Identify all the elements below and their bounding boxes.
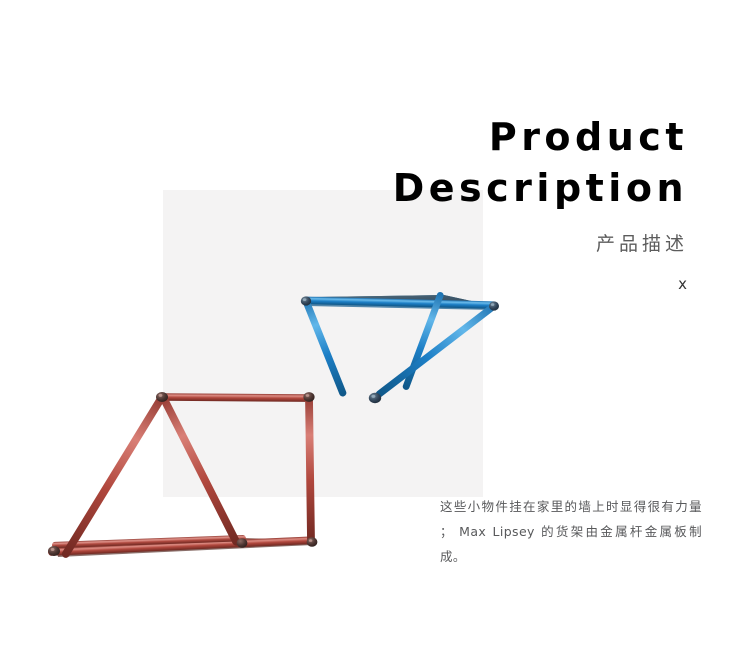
red-joint-bottom-right	[307, 537, 318, 546]
red-front-bottom-rail	[48, 536, 314, 556]
blue-joint-top-right-highlight	[491, 303, 494, 306]
blue-joint-top-right	[489, 301, 499, 310]
red-joint-bottom-mid	[237, 538, 248, 547]
red-shelf-plate-depth	[57, 540, 313, 557]
page-subtitle-chinese: 产品描述	[268, 232, 688, 256]
product-description-page: Product Description 产品描述 x 这些小物件挂在家里的墙上时…	[0, 0, 750, 652]
page-title-line-1: Product	[268, 112, 688, 163]
description-paragraph: 这些小物件挂在家里的墙上时显得很有力量 ； Max Lipsey 的货架由金属杆…	[440, 494, 702, 569]
red-joint-bottom-left	[48, 546, 60, 556]
red-shelf-plate-surface	[55, 538, 313, 552]
page-heading: Product Description 产品描述 x	[268, 112, 688, 293]
red-left-strut	[60, 392, 167, 560]
red-rear-bottom-rail	[52, 535, 246, 548]
page-title-line-2: Description	[268, 163, 688, 214]
product-description-text: 这些小物件挂在家里的墙上时显得很有力量 ； Max Lipsey 的货架由金属杆…	[440, 494, 702, 569]
red-joint-bottom-right-highlight	[309, 539, 312, 542]
page-subtitle-mark: x	[268, 275, 688, 293]
red-joint-apex-highlight	[159, 394, 163, 397]
red-joint-bottom-left-highlight	[51, 548, 55, 551]
